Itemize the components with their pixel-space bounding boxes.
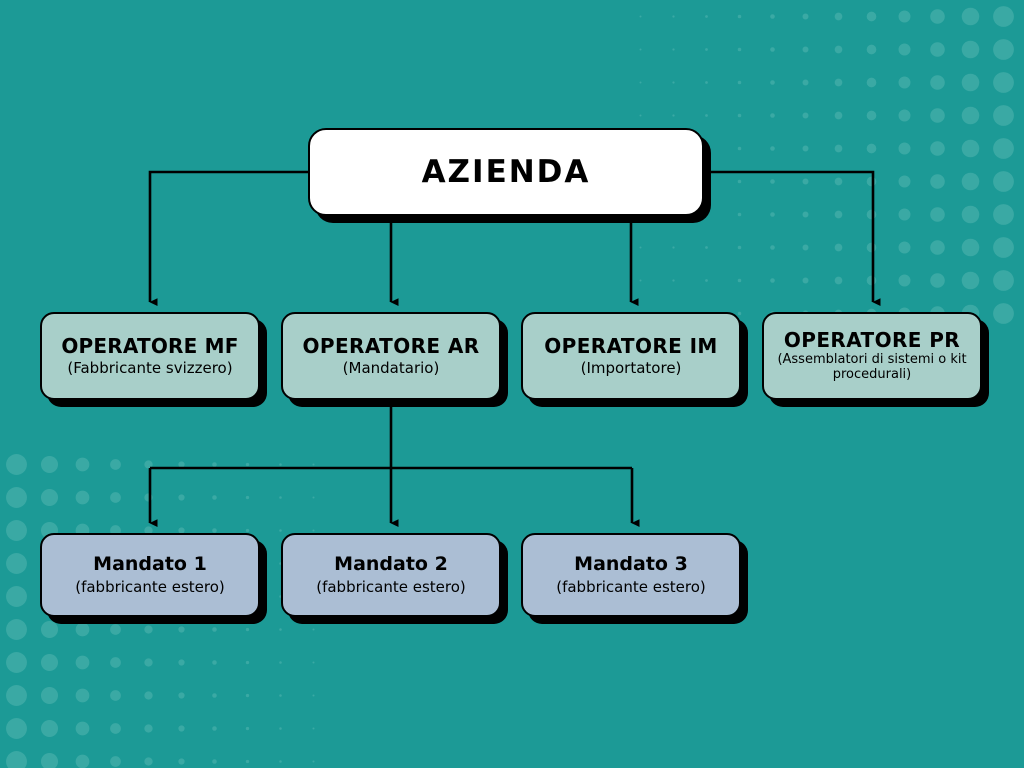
node-operatore-im-title: OPERATORE IM [544,336,717,357]
node-operatore-ar[interactable]: OPERATORE AR (Mandatario) [281,312,501,400]
node-operatore-mf-title: OPERATORE MF [61,336,238,357]
node-mandato-1-subtitle: (fabbricante estero) [75,579,225,596]
org-chart-canvas: AZIENDA OPERATORE MF (Fabbricante svizze… [0,0,1024,768]
node-azienda[interactable]: AZIENDA [308,128,704,216]
node-operatore-pr-title: OPERATORE PR [784,330,960,351]
node-mandato-3[interactable]: Mandato 3 (fabbricante estero) [521,533,741,617]
node-mandato-2-title: Mandato 2 [334,555,448,575]
node-mandato-3-title: Mandato 3 [574,555,688,575]
node-operatore-pr[interactable]: OPERATORE PR (Assemblatori di sistemi o … [762,312,982,400]
node-azienda-title: AZIENDA [422,156,591,189]
node-operatore-ar-subtitle: (Mandatario) [343,360,440,377]
node-operatore-mf-subtitle: (Fabbricante svizzero) [67,360,232,377]
node-mandato-3-subtitle: (fabbricante estero) [556,579,706,596]
node-operatore-pr-subtitle: (Assemblatori di sistemi o kit procedura… [757,353,987,382]
node-mandato-2-subtitle: (fabbricante estero) [316,579,466,596]
node-operatore-ar-title: OPERATORE AR [303,336,480,357]
node-mandato-1[interactable]: Mandato 1 (fabbricante estero) [40,533,260,617]
node-mandato-2[interactable]: Mandato 2 (fabbricante estero) [281,533,501,617]
edge-azienda-to-op-pr [704,172,873,302]
edge-azienda-to-op-mf [150,172,308,302]
node-operatore-im[interactable]: OPERATORE IM (Importatore) [521,312,741,400]
node-mandato-1-title: Mandato 1 [93,555,207,575]
node-operatore-mf[interactable]: OPERATORE MF (Fabbricante svizzero) [40,312,260,400]
node-operatore-im-subtitle: (Importatore) [581,360,682,377]
